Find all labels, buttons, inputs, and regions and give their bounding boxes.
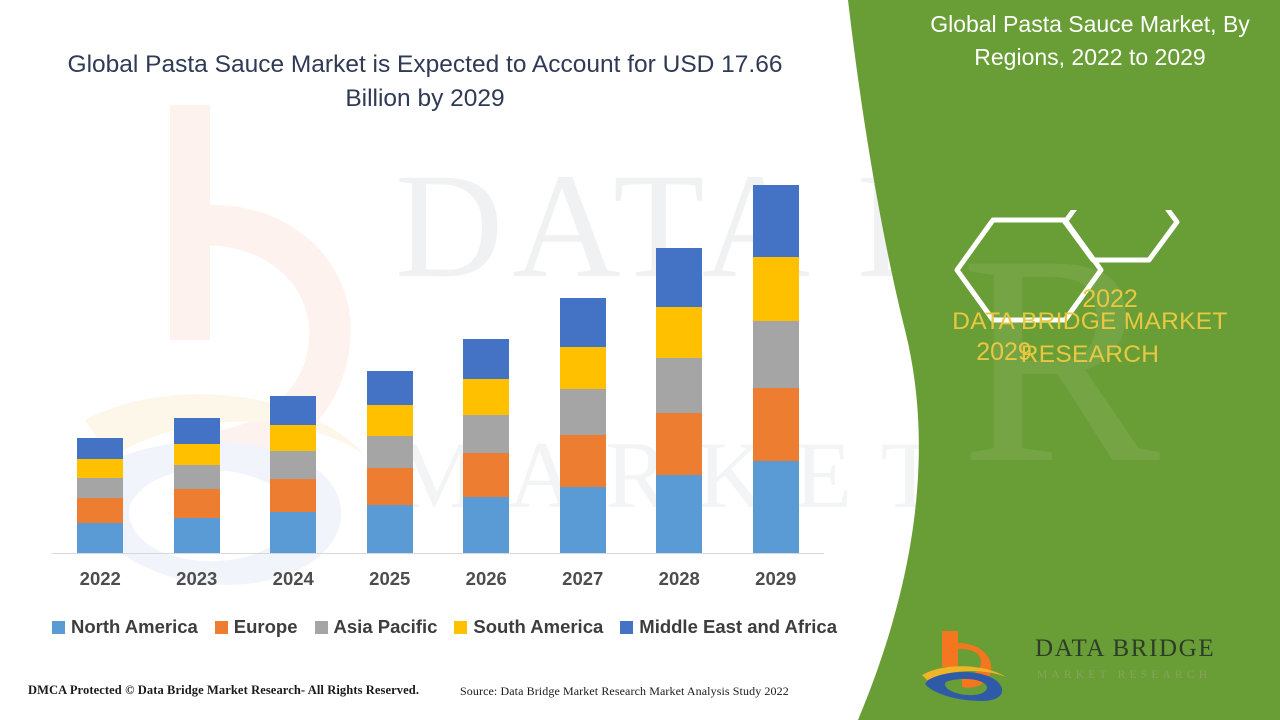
bar-segment <box>463 453 509 497</box>
bar-segment <box>174 518 220 554</box>
bar-segment <box>656 475 702 554</box>
legend-item-middle-east-and-africa[interactable]: Middle East and Africa <box>620 616 837 638</box>
bar-segment <box>463 339 509 379</box>
bar-segment <box>753 388 799 462</box>
bar-segment <box>77 523 123 554</box>
bar-segment <box>656 307 702 359</box>
bar-2025 <box>367 371 413 554</box>
bar-segment <box>560 298 606 347</box>
logo-name: DATA BRIDGE <box>1035 635 1215 663</box>
legend-swatch-icon <box>52 621 65 634</box>
dmca-notice: DMCA Protected © Data Bridge Market Rese… <box>28 683 419 698</box>
bar-segment <box>367 468 413 505</box>
bar-segment <box>463 415 509 453</box>
bar-segment <box>656 413 702 475</box>
bar-segment <box>367 505 413 554</box>
legend-label: Asia Pacific <box>334 616 438 638</box>
bar-2027 <box>560 298 606 554</box>
brand-text: DATA BRIDGE MARKET RESEARCH <box>910 305 1270 371</box>
bar-segment <box>174 444 220 466</box>
bar-segment <box>77 438 123 459</box>
bar-segment <box>174 418 220 443</box>
chart-legend: North AmericaEuropeAsia PacificSouth Ame… <box>52 616 842 638</box>
legend-swatch-icon <box>620 621 633 634</box>
footer: DMCA Protected © Data Bridge Market Rese… <box>0 680 860 720</box>
legend-label: South America <box>473 616 603 638</box>
bar-segment <box>560 389 606 435</box>
legend-label: North America <box>71 616 198 638</box>
hexagon-group: 2029 2022 <box>935 130 1255 310</box>
bar-segment <box>560 435 606 487</box>
x-label-2029: 2029 <box>731 568 821 590</box>
legend-item-north-america[interactable]: North America <box>52 616 198 638</box>
x-label-2023: 2023 <box>152 568 242 590</box>
bar-segment <box>560 347 606 390</box>
legend-swatch-icon <box>215 621 228 634</box>
bar-segment <box>560 487 606 554</box>
x-label-2025: 2025 <box>345 568 435 590</box>
legend-item-europe[interactable]: Europe <box>215 616 298 638</box>
x-label-2027: 2027 <box>538 568 628 590</box>
bar-2028 <box>656 248 702 554</box>
bar-segment <box>270 479 316 512</box>
green-panel-content: Global Pasta Sauce Market, By Regions, 2… <box>900 0 1280 720</box>
x-label-2028: 2028 <box>634 568 724 590</box>
chart-area: 20222023202420252026202720282029 North A… <box>0 0 860 720</box>
hexagon-2022 <box>1065 210 1177 260</box>
x-label-2026: 2026 <box>441 568 531 590</box>
bar-2026 <box>463 339 509 554</box>
bar-segment <box>77 459 123 478</box>
bar-segment <box>77 498 123 522</box>
bar-segment <box>753 257 799 321</box>
legend-swatch-icon <box>315 621 328 634</box>
bar-2029 <box>753 185 799 554</box>
bar-segment <box>174 489 220 517</box>
x-axis-labels: 20222023202420252026202720282029 <box>52 568 824 596</box>
bar-2022 <box>77 438 123 554</box>
bar-2023 <box>174 418 220 554</box>
panel-title: Global Pasta Sauce Market, By Regions, 2… <box>905 8 1275 73</box>
bar-segment <box>270 396 316 425</box>
legend-item-south-america[interactable]: South America <box>454 616 603 638</box>
bar-plot <box>52 120 824 554</box>
bar-segment <box>367 371 413 405</box>
bar-segment <box>77 478 123 499</box>
logo-subtitle: MARKET RESEARCH <box>1037 669 1211 681</box>
data-bridge-logo: DATA BRIDGE MARKET RESEARCH <box>920 625 1260 705</box>
x-label-2024: 2024 <box>248 568 338 590</box>
bar-segment <box>270 425 316 451</box>
bar-2024 <box>270 396 316 554</box>
x-label-2022: 2022 <box>55 568 145 590</box>
bar-segment <box>270 451 316 479</box>
source-note: Source: Data Bridge Market Research Mark… <box>460 684 789 699</box>
legend-label: Middle East and Africa <box>639 616 837 638</box>
brand-line-2: RESEARCH <box>910 338 1270 371</box>
bar-segment <box>463 497 509 554</box>
bar-segment <box>753 461 799 554</box>
legend-item-asia-pacific[interactable]: Asia Pacific <box>315 616 438 638</box>
bar-segment <box>270 512 316 554</box>
bar-segment <box>753 321 799 388</box>
brand-line-1: DATA BRIDGE MARKET <box>910 305 1270 338</box>
bar-segment <box>753 185 799 257</box>
logo-b-icon <box>920 627 1030 702</box>
legend-label: Europe <box>234 616 298 638</box>
bar-segment <box>463 379 509 415</box>
infographic-page: DATA BRIDGE MARKET RESEARCH Global Pasta… <box>0 0 1280 720</box>
bar-segment <box>367 405 413 435</box>
bar-segment <box>367 436 413 468</box>
bar-segment <box>656 358 702 413</box>
x-axis-line <box>52 553 824 554</box>
bar-segment <box>174 465 220 489</box>
legend-swatch-icon <box>454 621 467 634</box>
bar-segment <box>656 248 702 307</box>
